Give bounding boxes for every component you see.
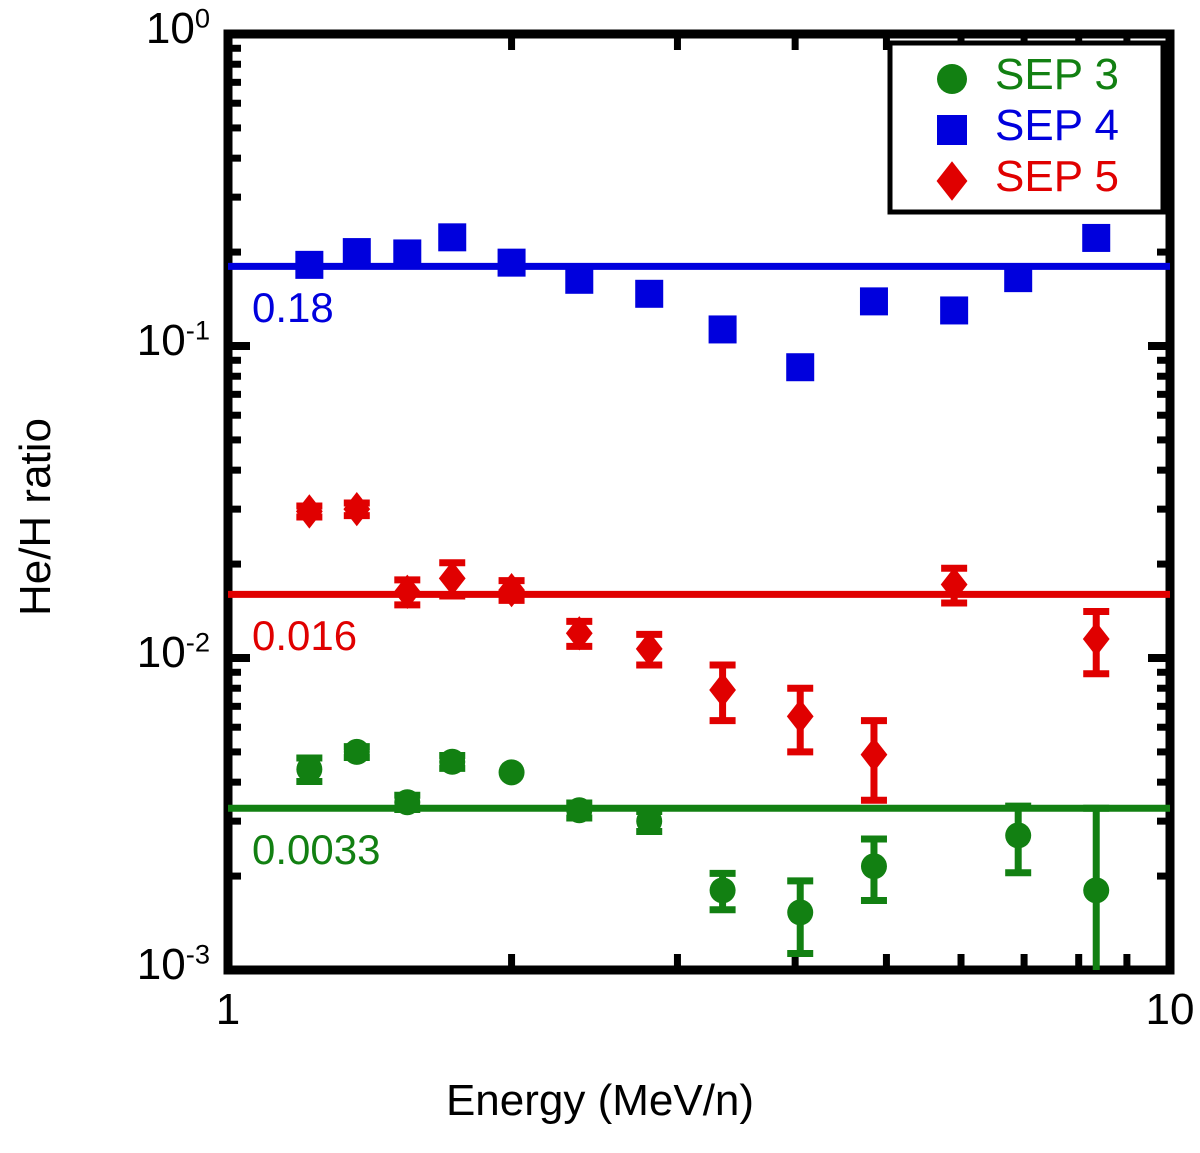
data-point-marker xyxy=(937,115,967,145)
data-point-marker xyxy=(861,853,887,879)
series-sep-5 xyxy=(296,492,1110,800)
data-point-marker xyxy=(860,287,888,315)
mean-annotation-sep-5: 0.016 xyxy=(252,612,357,660)
data-point-marker xyxy=(710,877,736,903)
legend-label-sep-3[interactable]: SEP 3 xyxy=(995,50,1119,100)
series-sep-3 xyxy=(296,739,1109,970)
data-point-marker xyxy=(940,296,968,324)
data-point-marker xyxy=(1083,622,1110,656)
data-point-marker xyxy=(438,223,466,251)
data-point-marker xyxy=(439,749,465,775)
data-point-marker xyxy=(295,251,323,279)
data-point-marker xyxy=(296,494,323,528)
data-point-marker xyxy=(635,280,663,308)
data-point-marker xyxy=(566,797,592,823)
data-point-marker xyxy=(393,239,421,267)
data-point-marker xyxy=(343,238,371,266)
data-point-marker xyxy=(343,492,370,526)
data-point-marker xyxy=(787,699,814,733)
legend-markers xyxy=(937,64,968,201)
data-point-marker xyxy=(394,789,420,815)
mean-annotation-sep-3: 0.0033 xyxy=(252,826,380,874)
data-point-marker xyxy=(861,737,888,771)
y-axis-title: He/H ratio xyxy=(11,397,61,637)
legend-label-sep-5[interactable]: SEP 5 xyxy=(995,152,1119,202)
data-point-marker xyxy=(937,64,967,94)
y-tick-label: 10-1 xyxy=(10,316,210,366)
data-point-marker xyxy=(499,759,525,785)
y-tick-label: 100 xyxy=(10,4,210,54)
x-axis-title: Energy (MeV/n) xyxy=(0,1076,1200,1126)
data-point-marker xyxy=(1082,224,1110,252)
data-point-marker xyxy=(709,673,736,707)
data-point-marker xyxy=(344,739,370,765)
legend-label-sep-4[interactable]: SEP 4 xyxy=(995,101,1119,151)
data-point-marker xyxy=(1083,877,1109,903)
data-point-marker xyxy=(296,756,322,782)
data-point-marker xyxy=(565,266,593,294)
data-point-marker xyxy=(636,808,662,834)
y-tick-label: 10-2 xyxy=(10,628,210,678)
data-point-marker xyxy=(498,249,526,277)
y-tick-label: 10-3 xyxy=(10,940,210,990)
data-point-marker xyxy=(1005,822,1031,848)
chart-figure: He/H ratio Energy (MeV/n) 10010-110-210-… xyxy=(0,0,1200,1153)
mean-annotation-sep-4: 0.18 xyxy=(252,284,334,332)
series-sep-4 xyxy=(295,223,1110,381)
data-point-marker xyxy=(439,561,466,595)
data-point-marker xyxy=(787,899,813,925)
x-tick-label: 10 xyxy=(1110,985,1200,1035)
x-tick-label: 1 xyxy=(168,985,288,1035)
data-point-marker xyxy=(709,315,737,343)
data-point-marker xyxy=(786,353,814,381)
data-point-marker xyxy=(1004,264,1032,292)
